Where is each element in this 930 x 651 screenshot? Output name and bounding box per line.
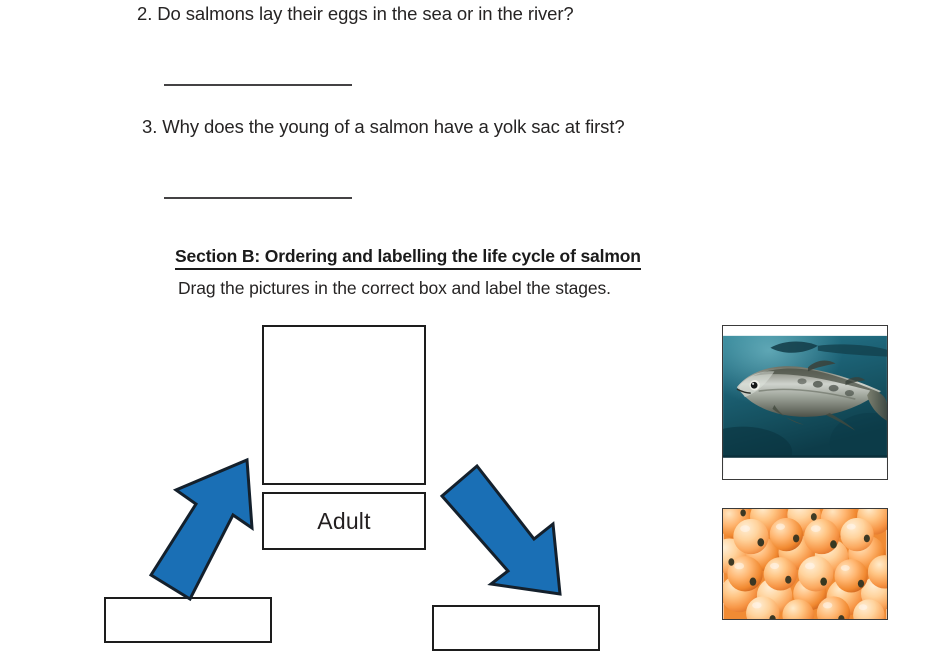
picture-drop-box-right[interactable] — [432, 605, 600, 651]
question-2-text: 2. Do salmons lay their eggs in the sea … — [137, 4, 574, 24]
section-b-instruction: Drag the pictures in the correct box and… — [178, 278, 611, 299]
arrow-up-right-icon — [148, 452, 272, 604]
section-b-heading: Section B: Ordering and labelling the li… — [175, 246, 641, 270]
photo-salmon-eggs[interactable] — [722, 508, 888, 620]
answer-line-question-2[interactable] — [164, 84, 352, 86]
answer-line-question-3[interactable] — [164, 197, 352, 199]
arrow-down-right-icon — [434, 456, 568, 606]
photo-juvenile-salmon[interactable] — [722, 325, 888, 480]
question-3-text: 3. Why does the young of a salmon have a… — [142, 117, 625, 137]
picture-drop-box-top[interactable] — [262, 325, 426, 485]
stage-label-adult: Adult — [317, 508, 370, 535]
stage-label-box-adult[interactable]: Adult — [262, 492, 426, 550]
worksheet-page: 2. Do salmons lay their eggs in the sea … — [0, 0, 930, 620]
